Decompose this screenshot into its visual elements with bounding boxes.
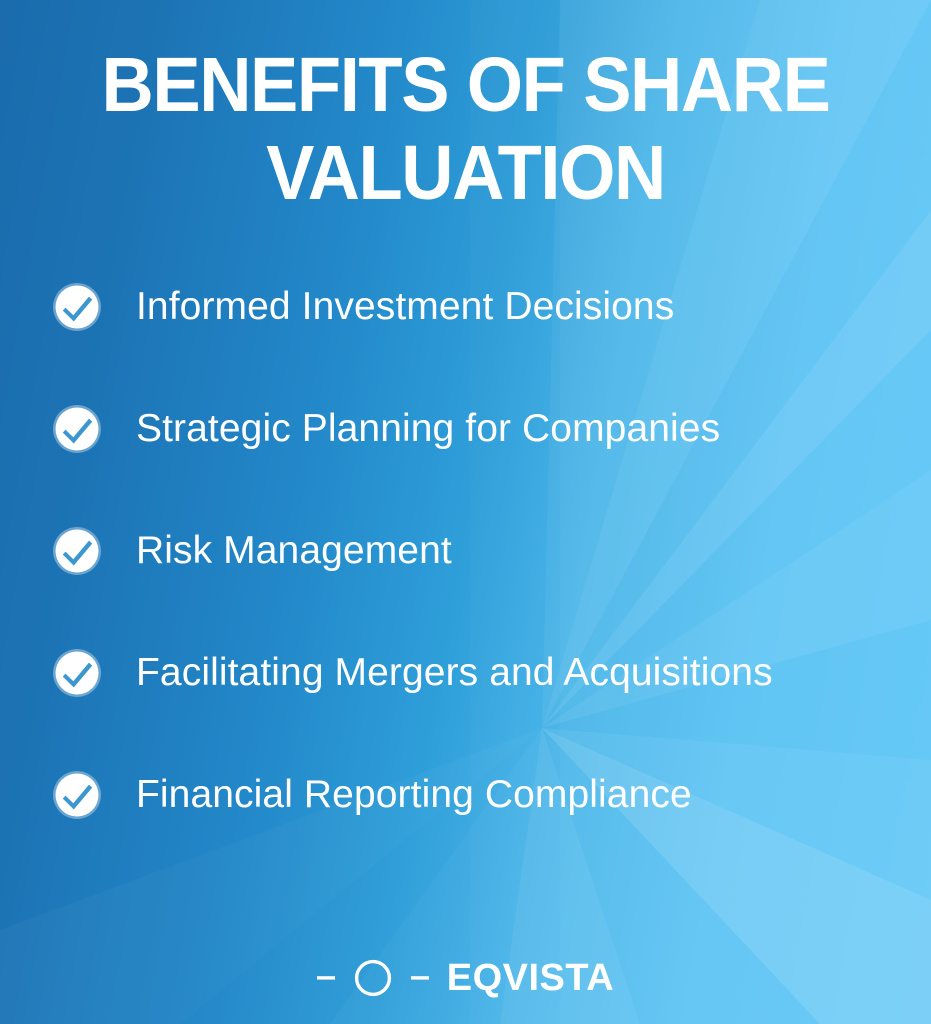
check-circle-icon — [52, 404, 102, 454]
list-item-label: Financial Reporting Compliance — [136, 772, 692, 818]
check-circle-icon — [52, 282, 102, 332]
ring-with-dashes-icon — [317, 956, 429, 1000]
check-circle-icon — [52, 526, 102, 576]
brand-logo: EQVISTA — [0, 956, 931, 1000]
list-item: Facilitating Mergers and Acquisitions — [52, 648, 922, 698]
check-circle-icon — [52, 648, 102, 698]
list-item-label: Informed Investment Decisions — [136, 284, 674, 330]
list-item-label: Facilitating Mergers and Acquisitions — [136, 650, 773, 696]
list-item-label: Strategic Planning for Companies — [136, 406, 720, 452]
title-line-2: VALUATION — [28, 129, 903, 217]
list-item: Risk Management — [52, 526, 922, 576]
benefits-poster: BENEFITS OF SHARE VALUATION Informed Inv… — [0, 0, 931, 1024]
list-item: Financial Reporting Compliance — [52, 770, 922, 820]
list-item: Informed Investment Decisions — [52, 282, 922, 332]
check-circle-icon — [52, 770, 102, 820]
benefits-list: Informed Investment Decisions Strategic … — [52, 282, 922, 892]
page-title: BENEFITS OF SHARE VALUATION — [0, 41, 931, 217]
list-item: Strategic Planning for Companies — [52, 404, 922, 454]
list-item-label: Risk Management — [136, 528, 452, 574]
title-line-1: BENEFITS OF SHARE — [28, 41, 903, 129]
brand-name: EQVISTA — [447, 959, 615, 997]
